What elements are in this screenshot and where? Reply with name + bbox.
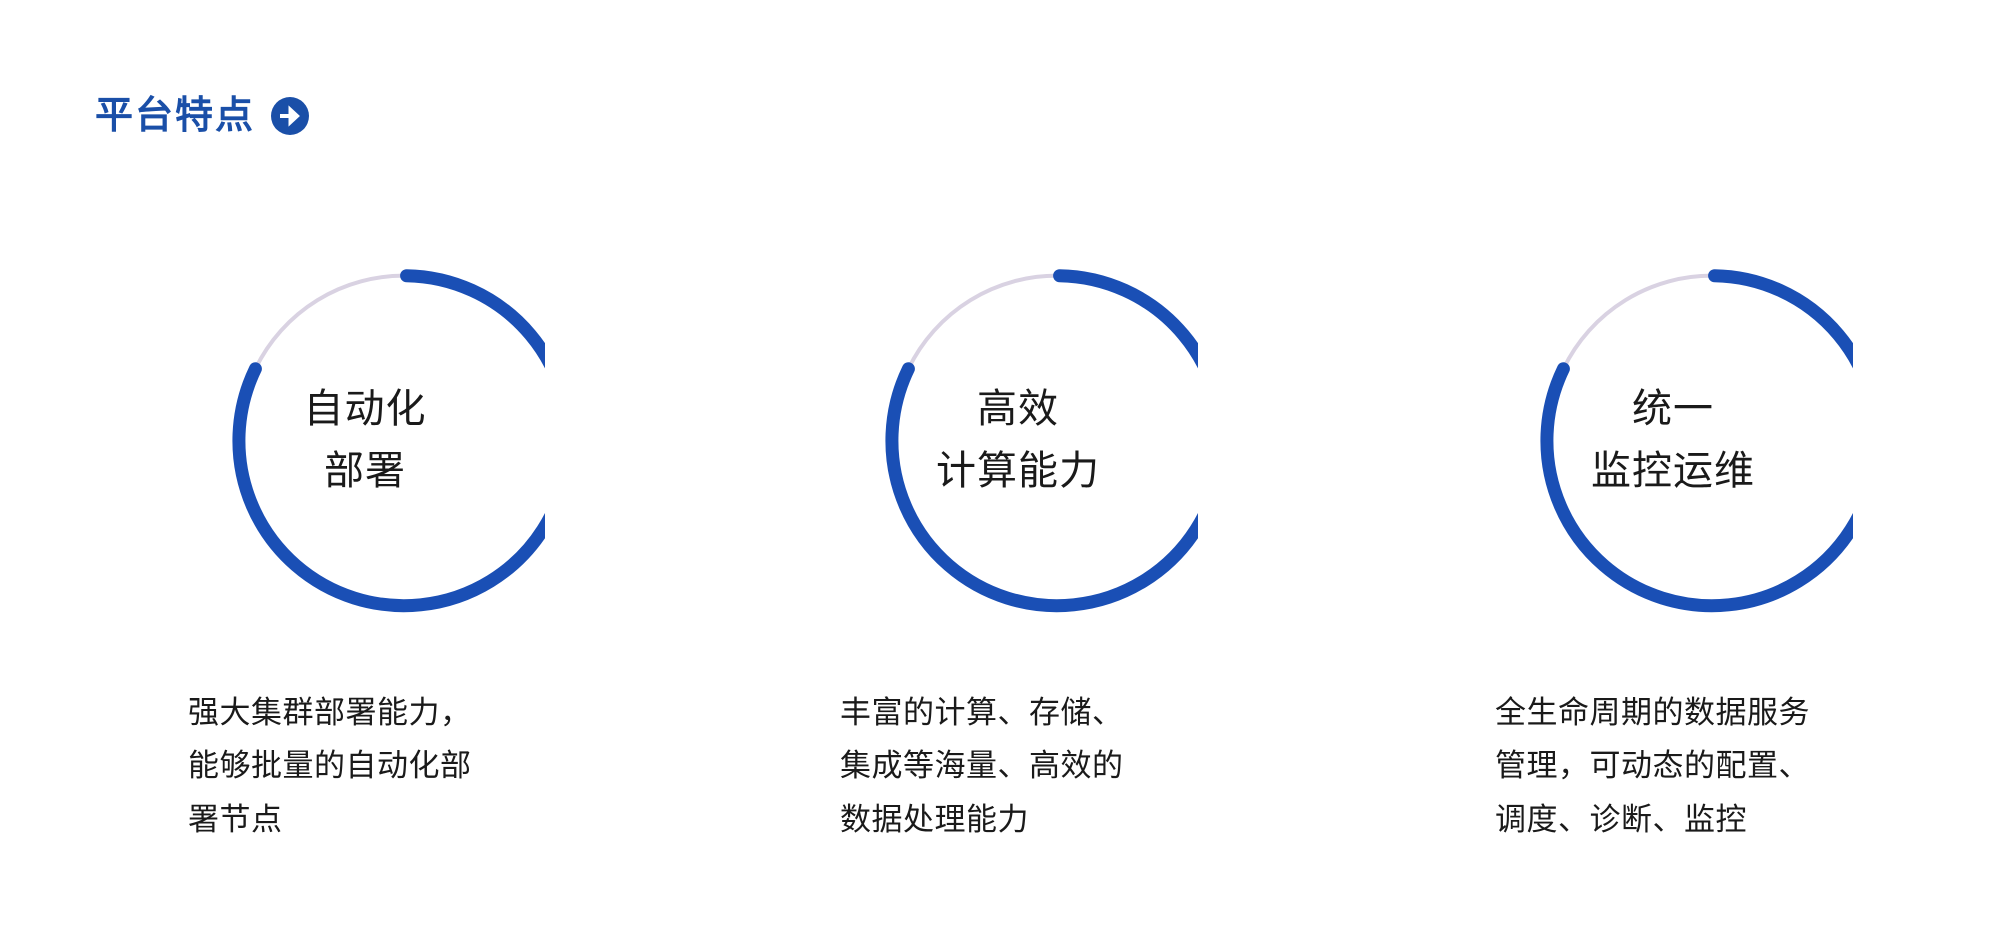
feature-card-1: 自动化 部署 强大集群部署能力， 能够批量的自动化部 署节点 [60,260,620,846]
progress-ring-1: 自动化 部署 [185,260,545,620]
progress-ring-3: 统一 监控运维 [1493,260,1853,620]
feature-description-2: 丰富的计算、存储、 集成等海量、高效的 数据处理能力 [840,686,1240,846]
desc-line-1: 强大集群部署能力， [188,686,588,739]
desc-line-2: 能够批量的自动化部 [188,739,588,792]
feature-card-3: 统一 监控运维 全生命周期的数据服务 管理，可动态的配置、 调度、诊断、监控 [1375,260,1935,846]
features-row: 自动化 部署 强大集群部署能力， 能够批量的自动化部 署节点 高效 计算能力 丰… [0,0,2000,940]
desc-line-2: 管理，可动态的配置、 [1495,739,1895,792]
desc-line-1: 丰富的计算、存储、 [840,686,1240,739]
feature-card-2: 高效 计算能力 丰富的计算、存储、 集成等海量、高效的 数据处理能力 [720,260,1280,846]
desc-line-1: 全生命周期的数据服务 [1495,686,1895,739]
desc-line-3: 调度、诊断、监控 [1495,793,1895,846]
progress-ring-2: 高效 计算能力 [838,260,1198,620]
desc-line-3: 署节点 [188,793,588,846]
desc-line-2: 集成等海量、高效的 [840,739,1240,792]
feature-description-1: 强大集群部署能力， 能够批量的自动化部 署节点 [188,686,588,846]
feature-description-3: 全生命周期的数据服务 管理，可动态的配置、 调度、诊断、监控 [1495,686,1895,846]
desc-line-3: 数据处理能力 [840,793,1240,846]
